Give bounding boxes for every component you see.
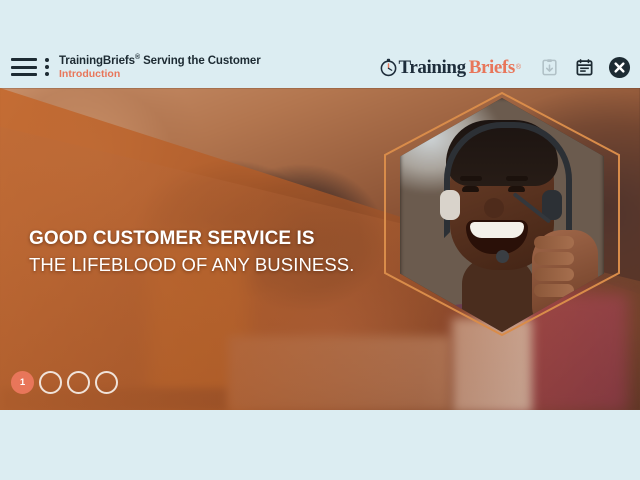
portrait-finger (534, 252, 574, 265)
kebab-dot (45, 65, 49, 69)
course-title-brand: TrainingBriefs (59, 55, 135, 67)
header-right-group: TrainingBriefs® (379, 55, 633, 81)
headset-microphone (496, 250, 509, 263)
player-header: TrainingBriefs® Serving the Customer Int… (0, 47, 640, 88)
headset-band-icon (444, 122, 572, 238)
close-circle-icon (608, 56, 631, 79)
logo-word-briefs: Briefs (469, 58, 515, 77)
logo-word-training: Training (399, 58, 466, 77)
header-left-group: TrainingBriefs® Serving the Customer Int… (8, 54, 261, 80)
lesson-subtitle: Introduction (59, 69, 261, 81)
pagination-dot-3[interactable]: 3 (67, 371, 90, 394)
notes-calendar-icon (575, 58, 594, 77)
notes-button[interactable] (571, 55, 597, 81)
kebab-dot (45, 72, 49, 76)
slide-pagination: 1 2 3 4 (11, 371, 118, 394)
portrait-finger (534, 236, 574, 249)
stopwatch-icon (379, 58, 398, 77)
download-resource-button[interactable] (536, 55, 562, 81)
slide-headline: GOOD CUSTOMER SERVICE IS THE LIFEBLOOD O… (29, 227, 359, 277)
clipboard-download-icon (540, 58, 559, 77)
course-title-rest: Serving the Customer (140, 55, 261, 67)
course-player-window: TrainingBriefs® Serving the Customer Int… (0, 0, 640, 480)
headline-line-2: THE LIFEBLOOD OF ANY BUSINESS. (29, 253, 359, 277)
kebab-menu-icon[interactable] (44, 58, 50, 76)
hamburger-menu-icon[interactable] (11, 58, 37, 76)
logo-registered-symbol: ® (516, 64, 521, 71)
pagination-dot-4[interactable]: 4 (95, 371, 118, 394)
trainingbriefs-logo: TrainingBriefs® (379, 58, 522, 77)
slide-stage: GOOD CUSTOMER SERVICE IS THE LIFEBLOOD O… (0, 88, 640, 410)
pagination-dot-1[interactable]: 1 (11, 371, 34, 394)
hamburger-line (11, 73, 37, 76)
hamburger-line (11, 58, 37, 61)
player-footer-area (0, 410, 640, 480)
hamburger-line (11, 66, 37, 69)
portrait-finger (534, 268, 574, 281)
headline-line-1: GOOD CUSTOMER SERVICE IS (29, 227, 359, 251)
kebab-dot (45, 58, 49, 62)
pagination-dot-2[interactable]: 2 (39, 371, 62, 394)
hexagon-portrait (382, 90, 622, 338)
close-button[interactable] (606, 55, 632, 81)
course-title-block: TrainingBriefs® Serving the Customer Int… (59, 54, 261, 80)
course-title: TrainingBriefs® Serving the Customer (59, 54, 261, 68)
headset-earcup-left (440, 190, 460, 220)
